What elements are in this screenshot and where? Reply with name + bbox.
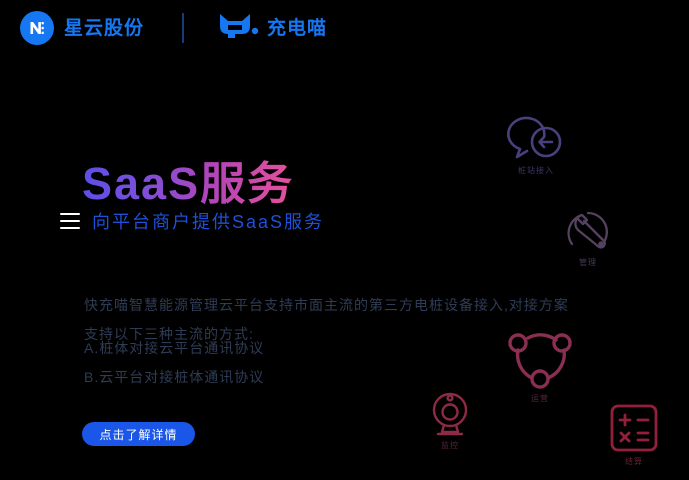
- decoration-label: 监控: [441, 440, 459, 451]
- header-divider: [182, 13, 184, 43]
- list-item: A.桩体对接云平台通讯协议: [84, 334, 264, 363]
- decoration-station-access: 桩站接入: [505, 104, 567, 176]
- page-title: SaaS服务: [82, 159, 294, 209]
- chat-bubbles-arrow-icon: [505, 104, 567, 162]
- decoration-label: 结算: [625, 456, 643, 467]
- decoration-label: 桩站接入: [518, 165, 554, 176]
- page-subtitle: 向平台商户提供SaaS服务: [92, 208, 324, 234]
- calculator-icon: [609, 403, 659, 453]
- wrench-tool-icon: [566, 210, 610, 254]
- list-item: B.云平台对接桩体通讯协议: [84, 363, 264, 392]
- brand-primary-name: 星云股份: [64, 19, 144, 38]
- decoration-operations: 运营: [506, 326, 574, 404]
- decoration-monitoring: 监控: [429, 391, 471, 451]
- brand-secondary-name: 充电喵: [267, 19, 327, 38]
- hamburger-icon[interactable]: [60, 213, 80, 229]
- nebula-circle-logo-icon: [20, 11, 54, 45]
- camera-monitor-icon: [429, 391, 471, 437]
- page-root: { "header": { "brand_primary": { "logo_i…: [0, 0, 689, 480]
- decoration-label: 管理: [579, 257, 597, 268]
- decoration-label: 运营: [531, 393, 549, 404]
- decoration-settlement: 结算: [609, 403, 659, 467]
- network-nodes-icon: [506, 326, 574, 390]
- learn-more-button[interactable]: 点击了解详情: [82, 422, 195, 446]
- brand-primary[interactable]: 星云股份: [20, 11, 144, 45]
- cat-head-logo-icon: [218, 12, 260, 45]
- subtitle-row: 向平台商户提供SaaS服务: [60, 208, 324, 234]
- decoration-management: 管理: [566, 210, 610, 268]
- site-header: 星云股份 充电喵: [0, 0, 689, 56]
- brand-secondary[interactable]: 充电喵: [218, 12, 327, 45]
